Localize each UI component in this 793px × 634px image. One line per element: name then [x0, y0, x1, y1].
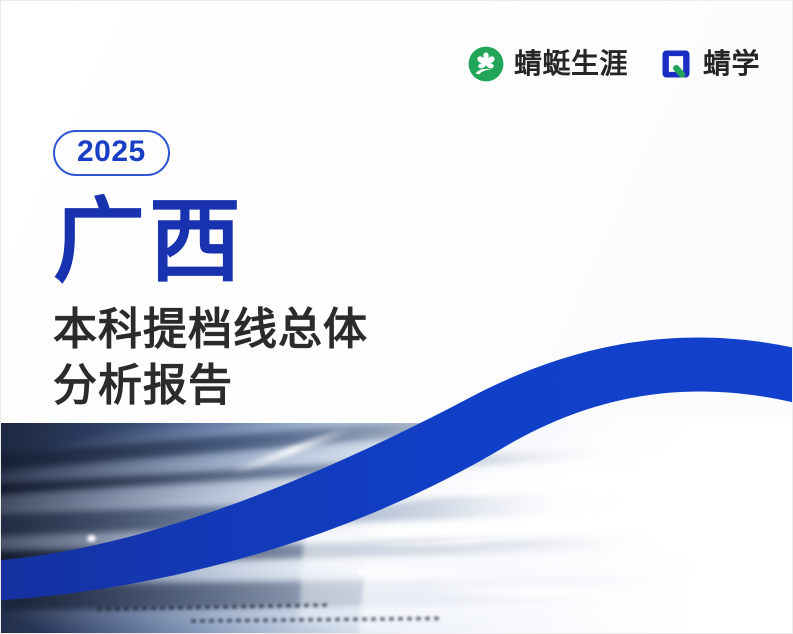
- blurred-stacked-documents-photo: [1, 423, 793, 633]
- logo-qingting-shengya[interactable]: 蜻蜓生涯: [467, 45, 628, 83]
- photo-right-fade: [434, 423, 793, 633]
- logo-word-qingxue: 蜻学: [703, 50, 760, 78]
- subtitle-line-2: 分析报告: [53, 358, 523, 414]
- province-title: 广西: [53, 196, 523, 288]
- green-leaf-circle-icon: [467, 45, 505, 83]
- logo-qingxue[interactable]: 蜻学: [658, 46, 760, 82]
- q-letter-icon: [658, 46, 694, 82]
- year-badge: 2025: [53, 130, 170, 176]
- report-cover: 蜻蜓生涯 蜻学 2025 广西 本科提档线总体 分析报告: [0, 0, 793, 634]
- title-block: 2025 广西 本科提档线总体 分析报告: [53, 130, 523, 415]
- logo-word-qingting-shengya: 蜻蜓生涯: [514, 50, 628, 78]
- subtitle-line-1: 本科提档线总体: [53, 302, 523, 358]
- light-speck: [357, 569, 364, 575]
- logo-bar: 蜻蜓生涯 蜻学: [467, 45, 760, 83]
- report-subtitle: 本科提档线总体 分析报告: [53, 302, 523, 415]
- light-speck: [87, 535, 96, 542]
